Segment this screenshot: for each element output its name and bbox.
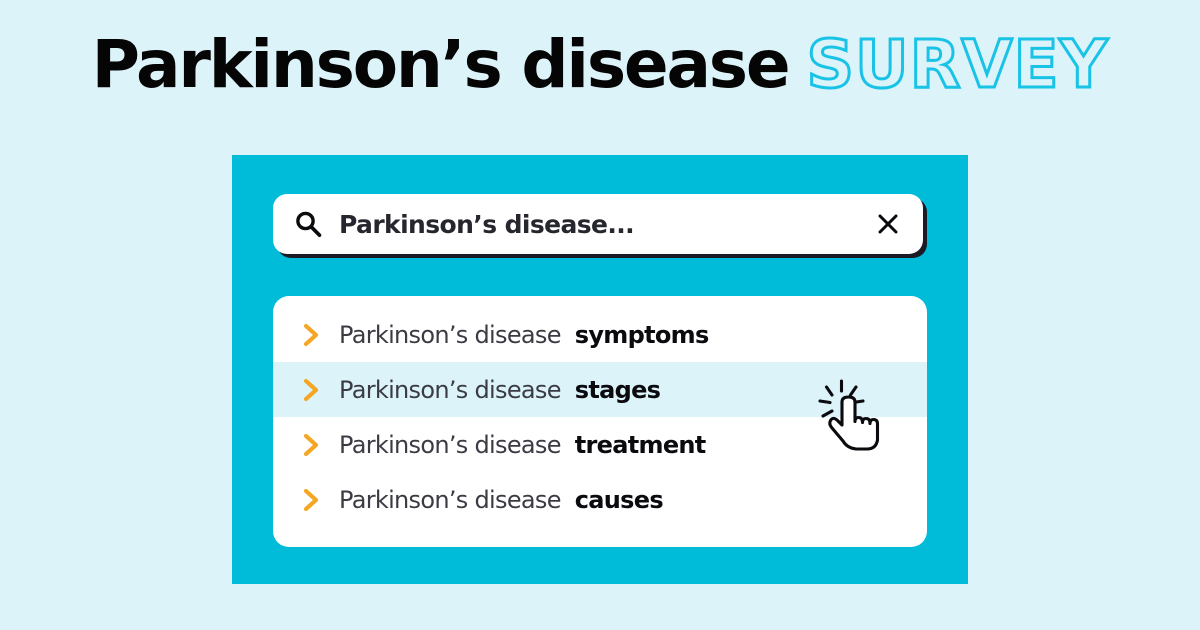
page-title: Parkinson’s diseaseSURVEY <box>0 32 1200 98</box>
search-icon <box>293 209 323 239</box>
chevron-right-icon <box>302 488 320 512</box>
suggestion-keyword: symptoms <box>575 321 709 349</box>
suggestion-prefix: Parkinson’s disease <box>339 431 561 459</box>
close-icon[interactable] <box>875 211 901 237</box>
suggestion-prefix: Parkinson’s disease <box>339 321 561 349</box>
suggestion-keyword: stages <box>575 376 661 404</box>
suggestion-keyword: causes <box>575 486 663 514</box>
list-item[interactable]: Parkinson’s disease treatment <box>273 417 927 472</box>
search-bar[interactable]: Parkinson’s disease... <box>273 194 923 254</box>
page-title-accent: SURVEY <box>806 26 1108 103</box>
list-item[interactable]: Parkinson’s disease causes <box>273 472 927 527</box>
list-item[interactable]: Parkinson’s disease stages <box>273 362 927 417</box>
search-input[interactable]: Parkinson’s disease... <box>339 210 875 239</box>
search-suggestions-list: Parkinson’s disease symptoms Parkinson’s… <box>273 296 927 547</box>
chevron-right-icon <box>302 323 320 347</box>
search-panel: Parkinson’s disease... Parkinson’s disea… <box>232 155 968 584</box>
page-title-main: Parkinson’s disease <box>92 26 789 103</box>
suggestion-prefix: Parkinson’s disease <box>339 486 561 514</box>
suggestion-keyword: treatment <box>575 431 706 459</box>
chevron-right-icon <box>302 433 320 457</box>
chevron-right-icon <box>302 378 320 402</box>
list-item[interactable]: Parkinson’s disease symptoms <box>273 307 927 362</box>
suggestion-prefix: Parkinson’s disease <box>339 376 561 404</box>
